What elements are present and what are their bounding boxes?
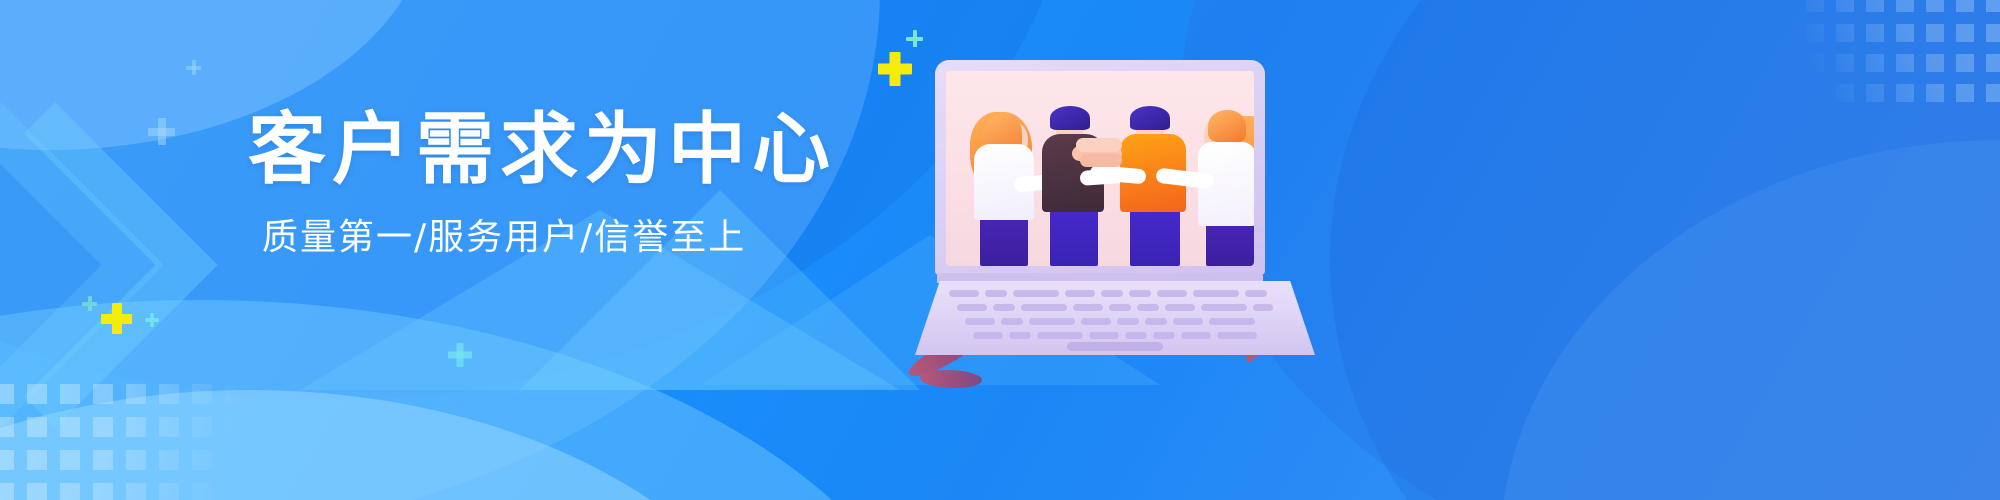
laptop-illustration (915, 60, 1315, 360)
keyboard-key (1173, 318, 1203, 325)
grid-square (0, 450, 14, 470)
grid-square (1896, 54, 1914, 72)
grid-square (1956, 24, 1974, 42)
woman-right-hair-front (1208, 110, 1246, 142)
grid-square (1836, 54, 1854, 72)
keyboard-key (1101, 290, 1123, 297)
grid-square (192, 483, 212, 500)
keyboard-key (973, 332, 1003, 339)
keyboard-key (1009, 332, 1031, 339)
grid-square (1806, 84, 1824, 102)
keyboard-key (1109, 304, 1131, 311)
leaf-decor-lower (920, 369, 983, 389)
grid-square (192, 450, 212, 470)
grid-square (1986, 84, 2000, 102)
grid-square (1956, 54, 1974, 72)
grid-square (0, 417, 14, 437)
keyboard-key (1089, 332, 1119, 339)
grid-square (126, 384, 146, 404)
plus-cyan-bottom-icon (145, 313, 159, 327)
grid-square (60, 417, 80, 437)
keyboard-key (1125, 332, 1147, 339)
grid-square (1806, 54, 1824, 72)
man-left-hair (1050, 106, 1090, 130)
keyboard-key (1117, 318, 1139, 325)
keyboard-key (1209, 318, 1255, 325)
grid-square (1896, 24, 1914, 42)
plus-yellow-large-icon (878, 52, 912, 86)
keyboard-key (1157, 290, 1187, 297)
background-wave-right-three (1500, 140, 2000, 500)
keyboard-key (1001, 318, 1023, 325)
keyboard-key (965, 318, 995, 325)
keyboard-key (1021, 304, 1067, 311)
grid-square (93, 417, 113, 437)
keyboard-key (1153, 332, 1175, 339)
keyboard-key (1145, 318, 1167, 325)
grid-square (159, 450, 179, 470)
grid-square (1956, 84, 1974, 102)
grid-square (1866, 24, 1884, 42)
person-woman-right (1190, 98, 1254, 266)
grid-square (1986, 54, 2000, 72)
page-title: 客户需求为中心 (248, 108, 868, 192)
dot-grid-top-right (1806, 0, 2000, 104)
laptop-keyboard-deck (915, 281, 1315, 355)
dot-grid-bottom-left (0, 384, 244, 500)
keyboard-key (957, 304, 987, 311)
grid-square (1926, 54, 1944, 72)
grid-square (1896, 0, 1914, 12)
keyboard-key (1037, 332, 1083, 339)
grid-square (225, 450, 244, 470)
keyboard-key (985, 290, 1007, 297)
grid-square (1836, 24, 1854, 42)
keyboard-key (1129, 290, 1151, 297)
grid-square (27, 384, 47, 404)
banner-subtitle: 质量第一/服务用户/信誉至上 (262, 216, 868, 259)
keyboard-key (1137, 304, 1159, 311)
grid-square (159, 483, 179, 500)
grid-square (126, 483, 146, 500)
grid-square (192, 417, 212, 437)
keyboard-key (1065, 290, 1095, 297)
grid-square (60, 450, 80, 470)
grid-square (126, 417, 146, 437)
keyboard-key (949, 290, 979, 297)
grid-square (1926, 0, 1944, 12)
keyboard-key (1201, 304, 1247, 311)
grid-square (1866, 54, 1884, 72)
laptop-screen (946, 71, 1254, 266)
grid-square (225, 384, 244, 404)
grid-square (1806, 24, 1824, 42)
plus-light-left-small-icon (186, 60, 201, 75)
grid-square (1806, 0, 1824, 12)
laptop-trackpad (1067, 342, 1163, 351)
keyboard-key (1181, 332, 1211, 339)
promo-banner: 客户需求为中心 质量第一/服务用户/信誉至上 (0, 0, 2000, 500)
keyboard-key (1013, 290, 1059, 297)
grid-square (1866, 0, 1884, 12)
man-right-hair (1130, 106, 1170, 130)
laptop-lid (935, 60, 1265, 275)
plus-cyan-small-icon (906, 30, 923, 47)
grid-square (1986, 24, 2000, 42)
grid-square (225, 483, 244, 500)
keyboard-key (1081, 318, 1111, 325)
grid-square (1926, 84, 1944, 102)
grid-square (1836, 0, 1854, 12)
grid-square (1866, 84, 1884, 102)
plus-cyan-left-icon (82, 296, 97, 311)
keyboard-key (1245, 290, 1267, 297)
grid-square (27, 450, 47, 470)
banner-text-block: 客户需求为中心 质量第一/服务用户/信誉至上 (248, 108, 868, 259)
grid-square (159, 417, 179, 437)
grid-square (60, 483, 80, 500)
grid-square (159, 384, 179, 404)
grid-square (93, 483, 113, 500)
keyboard-key (1073, 304, 1103, 311)
plus-light-left-icon (148, 118, 175, 145)
grid-square (27, 483, 47, 500)
keyboard-key (1029, 318, 1075, 325)
keyboard-key (1165, 304, 1195, 311)
grid-square (1836, 84, 1854, 102)
grid-square (225, 417, 244, 437)
grid-square (126, 450, 146, 470)
keyboard-key (1193, 290, 1239, 297)
joined-hands (1070, 136, 1130, 170)
keyboard-key (1253, 304, 1273, 311)
grid-square (1986, 0, 2000, 12)
grid-square (93, 384, 113, 404)
plus-yellow-bottom-icon (101, 303, 132, 334)
grid-square (27, 417, 47, 437)
grid-square (93, 450, 113, 470)
grid-square (1926, 24, 1944, 42)
grid-square (1956, 0, 1974, 12)
grid-square (60, 384, 80, 404)
laptop-base (915, 273, 1315, 357)
plus-cyan-center-icon (448, 343, 472, 367)
grid-square (1896, 84, 1914, 102)
keyboard-key (993, 304, 1015, 311)
keyboard-key (1217, 332, 1257, 339)
grid-square (0, 384, 14, 404)
grid-square (192, 384, 212, 404)
grid-square (0, 483, 14, 500)
